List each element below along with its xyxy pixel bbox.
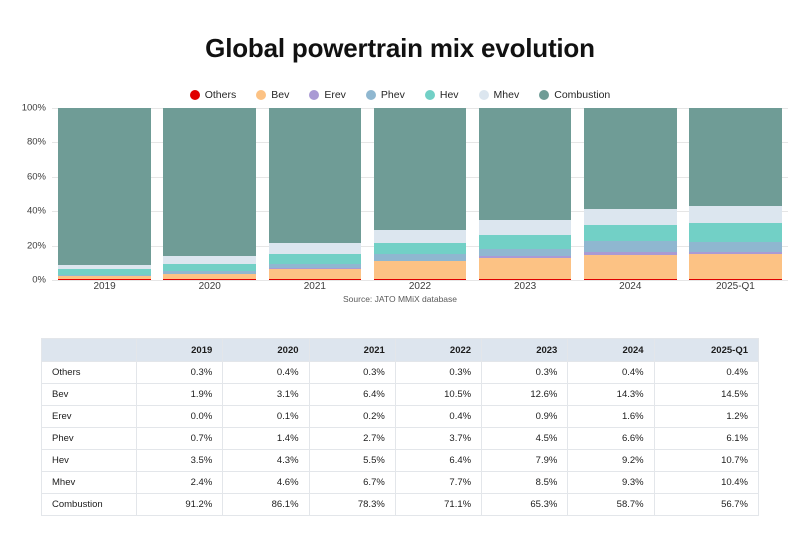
table-cell: 4.6% bbox=[223, 472, 309, 494]
bar-segment-mhev[interactable] bbox=[584, 209, 677, 225]
bar-segment-hev[interactable] bbox=[584, 225, 677, 241]
bar-slot bbox=[367, 108, 472, 280]
legend-swatch-icon bbox=[539, 90, 549, 100]
table-cell: 0.3% bbox=[395, 362, 481, 384]
table-cell: 0.1% bbox=[223, 406, 309, 428]
bar-group bbox=[52, 108, 788, 280]
page-title: Global powertrain mix evolution bbox=[0, 33, 800, 64]
stacked-bar-2023[interactable] bbox=[479, 108, 572, 280]
table-cell: 1.6% bbox=[568, 406, 654, 428]
legend-item-combustion[interactable]: Combustion bbox=[539, 89, 610, 101]
bar-segment-bev[interactable] bbox=[689, 254, 782, 279]
table-row-label: Erev bbox=[42, 406, 137, 428]
bar-segment-others[interactable] bbox=[479, 279, 572, 280]
table-cell: 0.3% bbox=[309, 362, 395, 384]
bar-segment-combustion[interactable] bbox=[269, 108, 362, 243]
legend-swatch-icon bbox=[425, 90, 435, 100]
y-axis-tick-label: 100% bbox=[22, 103, 46, 114]
table-cell: 56.7% bbox=[654, 494, 758, 516]
table-cell: 0.4% bbox=[654, 362, 758, 384]
table-cell: 0.2% bbox=[309, 406, 395, 428]
bar-segment-others[interactable] bbox=[58, 279, 151, 280]
table-row-label: Combustion bbox=[42, 494, 137, 516]
table-cell: 10.4% bbox=[654, 472, 758, 494]
table-row: Mhev2.4%4.6%6.7%7.7%8.5%9.3%10.4% bbox=[42, 472, 759, 494]
bar-segment-others[interactable] bbox=[689, 279, 782, 280]
bar-segment-mhev[interactable] bbox=[163, 256, 256, 264]
y-axis-tick-label: 20% bbox=[27, 240, 46, 251]
bar-segment-mhev[interactable] bbox=[479, 220, 572, 235]
table-cell: 0.4% bbox=[395, 406, 481, 428]
chart-page: Global powertrain mix evolution OthersBe… bbox=[0, 0, 800, 533]
bar-segment-combustion[interactable] bbox=[479, 108, 572, 220]
table-cell: 7.7% bbox=[395, 472, 481, 494]
table-cell: 5.5% bbox=[309, 450, 395, 472]
table-cell: 86.1% bbox=[223, 494, 309, 516]
table-cell: 3.1% bbox=[223, 384, 309, 406]
bar-segment-phev[interactable] bbox=[584, 241, 677, 252]
table-cell: 0.0% bbox=[137, 406, 223, 428]
table-cell: 1.2% bbox=[654, 406, 758, 428]
legend-item-label: Others bbox=[205, 89, 237, 101]
table-row: Erev0.0%0.1%0.2%0.4%0.9%1.6%1.2% bbox=[42, 406, 759, 428]
table-column-header: 2020 bbox=[223, 339, 309, 362]
table-row: Combustion91.2%86.1%78.3%71.1%65.3%58.7%… bbox=[42, 494, 759, 516]
legend-item-label: Bev bbox=[271, 89, 289, 101]
table-cell: 0.4% bbox=[568, 362, 654, 384]
table-row: Others0.3%0.4%0.3%0.3%0.3%0.4%0.4% bbox=[42, 362, 759, 384]
table-cell: 2.7% bbox=[309, 428, 395, 450]
table-cell: 91.2% bbox=[137, 494, 223, 516]
bar-segment-others[interactable] bbox=[269, 279, 362, 280]
table-column-header: 2025-Q1 bbox=[654, 339, 758, 362]
table-header-row: 2019202020212022202320242025-Q1 bbox=[42, 339, 759, 362]
legend-swatch-icon bbox=[256, 90, 266, 100]
legend-item-label: Erev bbox=[324, 89, 346, 101]
table-cell: 0.7% bbox=[137, 428, 223, 450]
bar-slot bbox=[578, 108, 683, 280]
bar-segment-mhev[interactable] bbox=[689, 206, 782, 224]
table-cell: 9.2% bbox=[568, 450, 654, 472]
legend-item-phev[interactable]: Phev bbox=[366, 89, 405, 101]
table-cell: 0.4% bbox=[223, 362, 309, 384]
table-column-header: 2024 bbox=[568, 339, 654, 362]
table-column-header: 2023 bbox=[482, 339, 568, 362]
bar-segment-combustion[interactable] bbox=[584, 108, 677, 209]
table-cell: 8.5% bbox=[482, 472, 568, 494]
bar-segment-bev[interactable] bbox=[584, 255, 677, 280]
stacked-bar-2022[interactable] bbox=[374, 108, 467, 280]
bar-segment-combustion[interactable] bbox=[689, 108, 782, 206]
table-cell: 10.7% bbox=[654, 450, 758, 472]
legend-swatch-icon bbox=[479, 90, 489, 100]
table-cell: 4.5% bbox=[482, 428, 568, 450]
source-note: Source: JATO MMiX database bbox=[0, 294, 800, 304]
legend-item-label: Phev bbox=[381, 89, 405, 101]
table-cell: 6.4% bbox=[309, 384, 395, 406]
bar-segment-hev[interactable] bbox=[374, 243, 467, 254]
bar-segment-phev[interactable] bbox=[689, 242, 782, 252]
legend-item-others[interactable]: Others bbox=[190, 89, 237, 101]
table-cell: 71.1% bbox=[395, 494, 481, 516]
table-row: Hev3.5%4.3%5.5%6.4%7.9%9.2%10.7% bbox=[42, 450, 759, 472]
bar-segment-bev[interactable] bbox=[479, 258, 572, 280]
table-cell: 6.4% bbox=[395, 450, 481, 472]
table-row-label: Hev bbox=[42, 450, 137, 472]
bar-slot bbox=[157, 108, 262, 280]
legend-item-label: Mhev bbox=[494, 89, 520, 101]
bar-segment-combustion[interactable] bbox=[163, 108, 256, 256]
y-axis-tick-label: 40% bbox=[27, 206, 46, 217]
bar-segment-bev[interactable] bbox=[269, 269, 362, 280]
table-row: Phev0.7%1.4%2.7%3.7%4.5%6.6%6.1% bbox=[42, 428, 759, 450]
bar-segment-mhev[interactable] bbox=[374, 230, 467, 243]
legend-item-erev[interactable]: Erev bbox=[309, 89, 346, 101]
table-cell: 14.5% bbox=[654, 384, 758, 406]
bar-segment-combustion[interactable] bbox=[58, 108, 151, 265]
data-table: 2019202020212022202320242025-Q1 Others0.… bbox=[41, 338, 759, 516]
table-cell: 12.6% bbox=[482, 384, 568, 406]
table-cell: 14.3% bbox=[568, 384, 654, 406]
legend-item-mhev[interactable]: Mhev bbox=[479, 89, 520, 101]
table-cell: 78.3% bbox=[309, 494, 395, 516]
bar-segment-others[interactable] bbox=[374, 279, 467, 280]
table-cell: 3.7% bbox=[395, 428, 481, 450]
bar-segment-others[interactable] bbox=[584, 279, 677, 280]
bar-segment-hev[interactable] bbox=[479, 235, 572, 249]
table-cell: 3.5% bbox=[137, 450, 223, 472]
bar-segment-mhev[interactable] bbox=[269, 243, 362, 255]
table-cell: 9.3% bbox=[568, 472, 654, 494]
table-cell: 1.9% bbox=[137, 384, 223, 406]
table-row-label: Phev bbox=[42, 428, 137, 450]
legend-item-bev[interactable]: Bev bbox=[256, 89, 289, 101]
table-cell: 6.1% bbox=[654, 428, 758, 450]
table-cell: 10.5% bbox=[395, 384, 481, 406]
bar-slot bbox=[262, 108, 367, 280]
legend-swatch-icon bbox=[309, 90, 319, 100]
bar-segment-hev[interactable] bbox=[269, 254, 362, 263]
table-column-header: 2021 bbox=[309, 339, 395, 362]
bar-slot bbox=[473, 108, 578, 280]
table-cell: 65.3% bbox=[482, 494, 568, 516]
table-body: Others0.3%0.4%0.3%0.3%0.3%0.4%0.4%Bev1.9… bbox=[42, 362, 759, 516]
table-row-label: Others bbox=[42, 362, 137, 384]
legend-item-label: Combustion bbox=[554, 89, 610, 101]
table-cell: 0.3% bbox=[482, 362, 568, 384]
legend-item-hev[interactable]: Hev bbox=[425, 89, 459, 101]
stacked-bar-2025-Q1[interactable] bbox=[689, 108, 782, 280]
y-axis-tick-label: 0% bbox=[32, 275, 46, 286]
legend-swatch-icon bbox=[190, 90, 200, 100]
table-column-header: 2022 bbox=[395, 339, 481, 362]
table-cell: 4.3% bbox=[223, 450, 309, 472]
stacked-bar-chart: 0%20%40%60%80%100% bbox=[0, 108, 800, 280]
table-column-header: 2019 bbox=[137, 339, 223, 362]
table-cell: 6.6% bbox=[568, 428, 654, 450]
plot-area bbox=[52, 108, 788, 280]
bar-segment-bev[interactable] bbox=[374, 261, 467, 279]
table-cell: 6.7% bbox=[309, 472, 395, 494]
table-cell: 0.9% bbox=[482, 406, 568, 428]
stacked-bar-2021[interactable] bbox=[269, 108, 362, 280]
table-row: Bev1.9%3.1%6.4%10.5%12.6%14.3%14.5% bbox=[42, 384, 759, 406]
bar-segment-phev[interactable] bbox=[479, 249, 572, 257]
bar-slot bbox=[683, 108, 788, 280]
bar-slot bbox=[52, 108, 157, 280]
stacked-bar-2019[interactable] bbox=[58, 108, 151, 280]
table-cell: 2.4% bbox=[137, 472, 223, 494]
legend-item-label: Hev bbox=[440, 89, 459, 101]
stacked-bar-2020[interactable] bbox=[163, 108, 256, 280]
table-row-label: Bev bbox=[42, 384, 137, 406]
table-header: 2019202020212022202320242025-Q1 bbox=[42, 339, 759, 362]
chart-legend: OthersBevErevPhevHevMhevCombustion bbox=[0, 89, 800, 101]
bar-segment-hev[interactable] bbox=[689, 223, 782, 241]
y-axis-tick-label: 80% bbox=[27, 137, 46, 148]
y-axis: 0%20%40%60%80%100% bbox=[0, 108, 52, 280]
bar-segment-others[interactable] bbox=[163, 279, 256, 280]
bar-segment-combustion[interactable] bbox=[374, 108, 467, 230]
table-cell: 0.3% bbox=[137, 362, 223, 384]
legend-swatch-icon bbox=[366, 90, 376, 100]
stacked-bar-2024[interactable] bbox=[584, 108, 677, 280]
table-cell: 58.7% bbox=[568, 494, 654, 516]
table-row-label: Mhev bbox=[42, 472, 137, 494]
table-cell: 7.9% bbox=[482, 450, 568, 472]
table-corner-cell bbox=[42, 339, 137, 362]
table-cell: 1.4% bbox=[223, 428, 309, 450]
y-axis-tick-label: 60% bbox=[27, 171, 46, 182]
bar-segment-hev[interactable] bbox=[163, 264, 256, 271]
